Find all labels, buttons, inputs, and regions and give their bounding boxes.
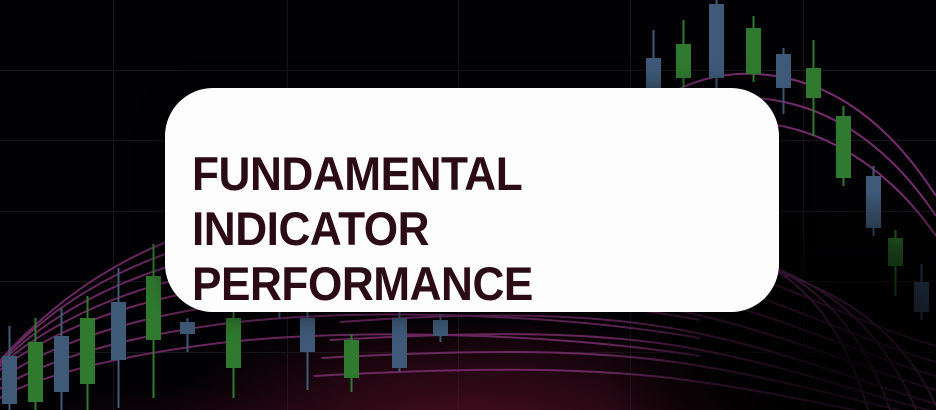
candlestick [80, 296, 95, 410]
candlestick [111, 268, 126, 408]
candlestick [433, 314, 448, 342]
page-title: Fundamental Indicator Performance [192, 146, 716, 311]
candlestick [300, 312, 315, 390]
poster-canvas: Fundamental Indicator Performance [0, 0, 936, 410]
candlestick [2, 326, 17, 410]
candlestick [806, 40, 821, 136]
candlestick [28, 318, 43, 410]
candlestick [344, 334, 359, 392]
candlestick [836, 106, 851, 186]
candlestick [866, 166, 881, 236]
candlestick [914, 264, 929, 320]
candlestick [776, 48, 791, 114]
candlestick [180, 318, 195, 352]
candlestick [392, 312, 407, 372]
candlestick [709, 0, 724, 96]
candlestick [888, 230, 903, 296]
candlestick [746, 16, 761, 82]
candlestick [146, 244, 161, 398]
candlestick [226, 312, 241, 398]
title-card: Fundamental Indicator Performance [165, 88, 779, 312]
candlestick [54, 308, 69, 410]
